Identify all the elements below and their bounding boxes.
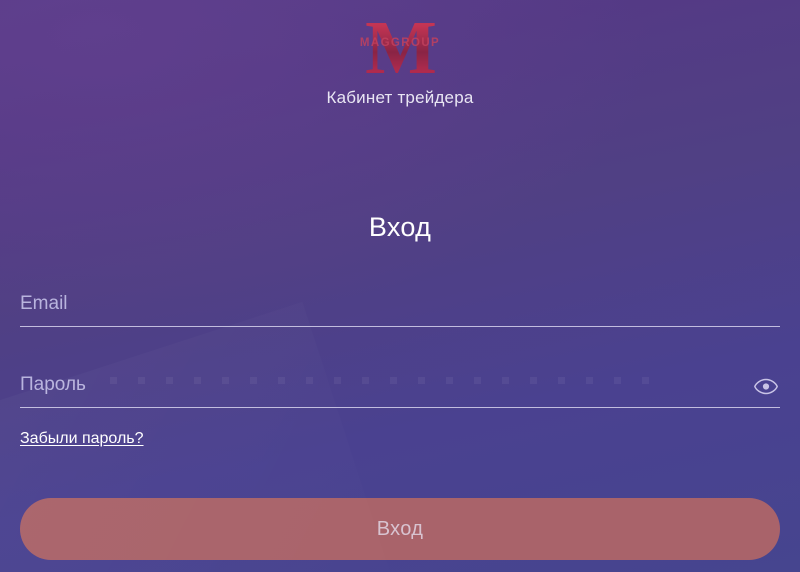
email-field-underline [20,326,780,327]
brand-subtitle: Кабинет трейдера [0,88,800,108]
brand-header: M MAGGROUP Кабинет трейдера [0,12,800,108]
toggle-password-visibility-button[interactable] [752,372,780,400]
login-screen: M MAGGROUP Кабинет трейдера Вход Забыли … [0,0,800,572]
email-field-group [20,285,780,327]
eye-icon [754,378,778,395]
password-input[interactable] [20,366,780,406]
email-input[interactable] [20,285,780,325]
forgot-password-link[interactable]: Забыли пароль? [20,430,144,448]
page-title: Вход [0,212,800,243]
login-submit-button[interactable]: Вход [20,498,780,560]
maggroup-logo: M MAGGROUP [352,12,448,84]
password-field-group [20,366,780,408]
logo-wordmark: MAGGROUP [352,38,448,50]
password-field-underline [20,407,780,408]
